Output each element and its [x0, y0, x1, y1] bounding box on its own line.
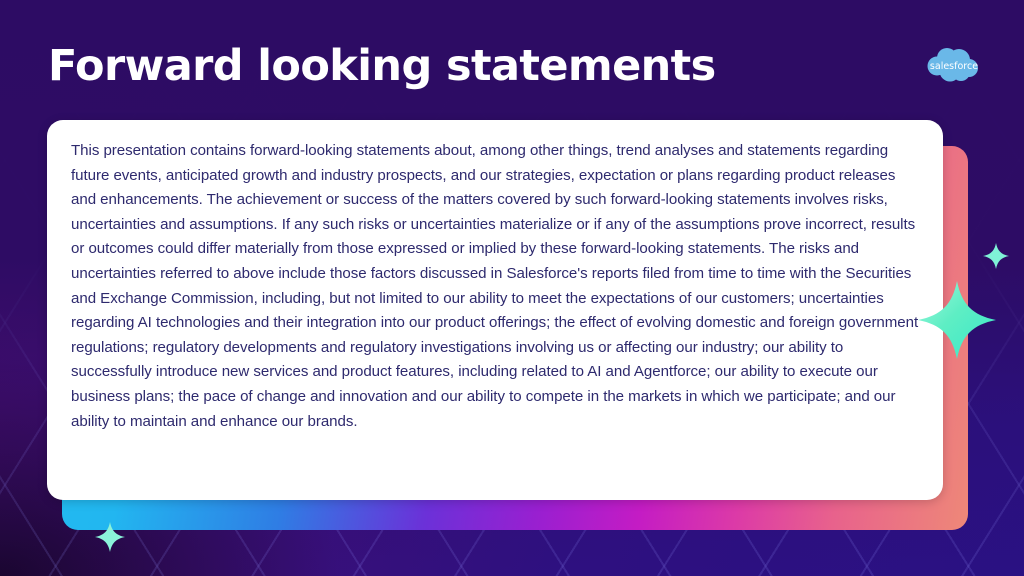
salesforce-cloud-logo: salesforce: [925, 46, 983, 84]
slide-canvas: Forward looking statements salesforce Th…: [0, 0, 1024, 576]
disclaimer-text: This presentation contains forward-looki…: [71, 139, 923, 434]
page-title: Forward looking statements: [48, 44, 716, 89]
salesforce-wordmark: salesforce: [930, 61, 978, 72]
disclaimer-card: This presentation contains forward-looki…: [47, 120, 943, 500]
sparkle-star-icon: [983, 243, 1009, 269]
